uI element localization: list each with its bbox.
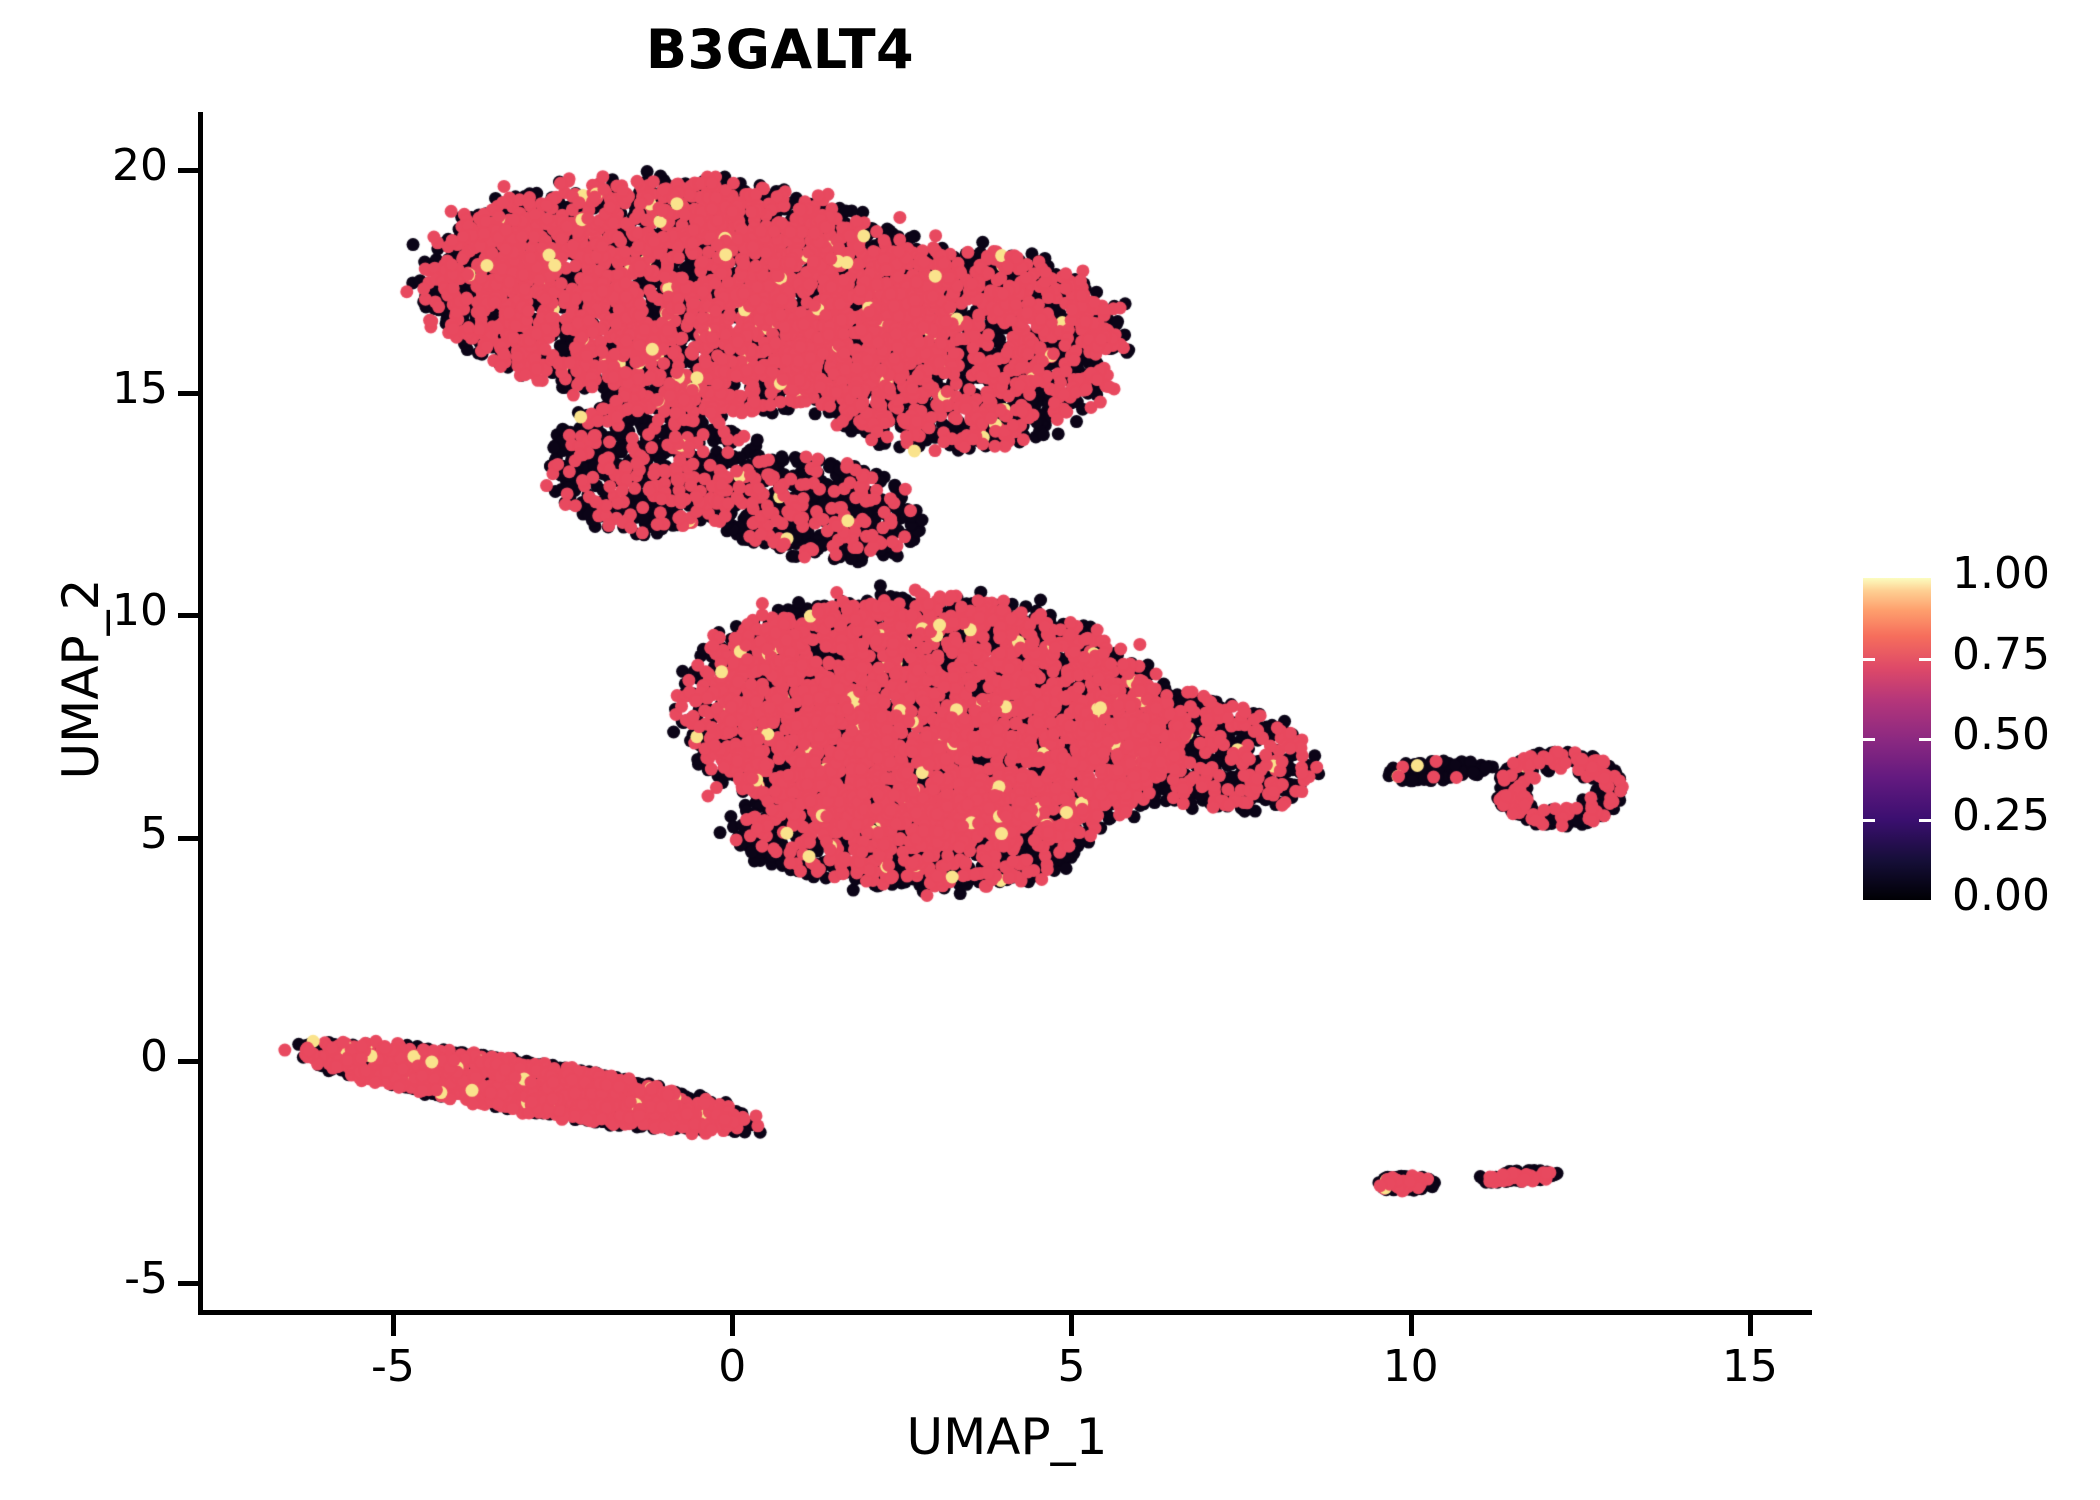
y-tick-mark [178, 1281, 199, 1286]
colorbar-tick-label: 0.75 [1952, 629, 2050, 680]
figure-root: B3GALT4 -505101520 -5051015 UMAP_1 UMAP_… [0, 0, 2100, 1500]
colorbar-tick-mark [1919, 738, 1931, 741]
scatter-points-canvas [203, 112, 1811, 1310]
x-tick-label: 15 [1670, 1341, 1830, 1392]
x-tick-label: 5 [991, 1341, 1151, 1392]
x-tick-label: 10 [1331, 1341, 1491, 1392]
x-tick-mark [1069, 1315, 1074, 1336]
colorbar-tick-label: 1.00 [1952, 548, 2050, 599]
y-tick-mark [178, 1059, 199, 1064]
x-axis-label: UMAP_1 [203, 1408, 1811, 1466]
colorbar-tick-label: 0.50 [1952, 709, 2050, 760]
x-tick-mark [730, 1315, 735, 1336]
y-axis-label: UMAP_2 [52, 379, 110, 979]
x-tick-label: -5 [313, 1341, 473, 1392]
colorbar-tick-mark [1863, 819, 1875, 822]
colorbar-tick-mark [1919, 658, 1931, 661]
colorbar-tick-mark [1919, 819, 1931, 822]
y-tick-label: -5 [0, 1253, 168, 1304]
colorbar-tick-label: 0.25 [1952, 790, 2050, 841]
colorbar-tick-mark [1863, 658, 1875, 661]
y-tick-mark [178, 168, 199, 173]
colorbar-tick-label: 0.00 [1952, 870, 2050, 921]
x-tick-mark [391, 1315, 396, 1336]
x-tick-mark [1409, 1315, 1414, 1336]
y-tick-mark [178, 613, 199, 618]
y-tick-mark [178, 391, 199, 396]
x-axis-spine [198, 1310, 1812, 1315]
y-axis-spine [198, 112, 203, 1315]
scatter-plot-area [203, 112, 1811, 1310]
y-tick-label: 20 [0, 140, 168, 191]
y-tick-mark [178, 836, 199, 841]
x-tick-label: 0 [652, 1341, 812, 1392]
colorbar-tick-mark [1863, 738, 1875, 741]
colorbar [1863, 578, 1931, 900]
x-tick-mark [1748, 1315, 1753, 1336]
y-tick-label: 0 [0, 1031, 168, 1082]
page-title: B3GALT4 [0, 18, 1560, 81]
